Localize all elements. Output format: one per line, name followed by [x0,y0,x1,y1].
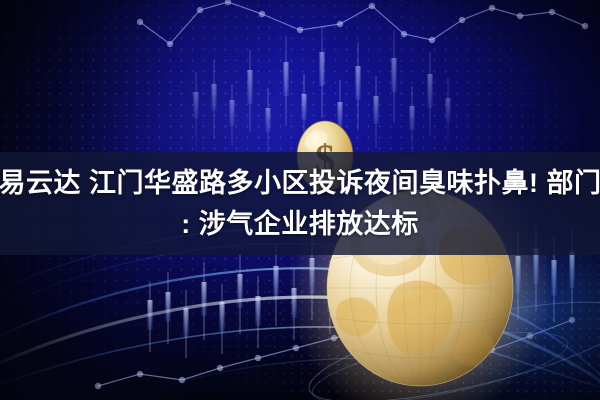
title-overlay-band: 易云达 江门华盛路多小区投诉夜间臭味扑鼻! 部门 : 涉气企业排放达标 [0,152,600,255]
banner-image: $ [0,0,600,400]
headline-line-1: 易云达 江门华盛路多小区投诉夜间臭味扑鼻! 部门 [0,163,600,204]
headline-line-2: : 涉气企业排放达标 [181,204,419,245]
